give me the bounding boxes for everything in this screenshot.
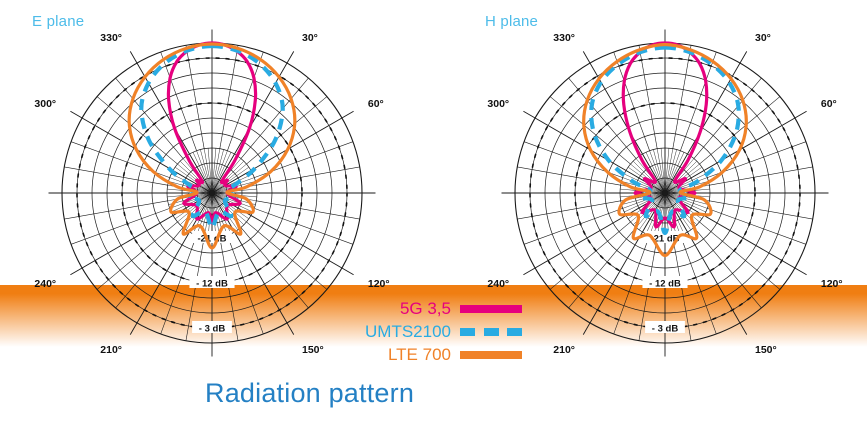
polar-plot-h-plane: 0°30°60°90°120°150°180°210°240°270°300°3… — [485, 13, 845, 373]
radial-label-3db: - 3 dB — [652, 323, 679, 334]
figure-title: Radiation pattern — [205, 378, 414, 409]
legend-swatch-umts — [460, 328, 522, 336]
angle-tick-300: 300° — [34, 98, 56, 110]
legend-label-umts: UMTS2100 — [365, 322, 451, 342]
legend-swatch-5g — [460, 305, 522, 313]
legend-label-5g: 5G 3,5 — [400, 299, 451, 319]
legend-swatch-lte — [460, 351, 522, 359]
radial-label-12db: - 12 dB — [649, 278, 681, 289]
plane-label-e: E plane — [32, 13, 84, 30]
angle-tick-120: 120° — [368, 278, 390, 290]
angle-tick-300: 300° — [487, 98, 509, 110]
angle-tick-210: 210° — [553, 344, 575, 356]
angle-tick-240: 240° — [34, 278, 56, 290]
angle-tick-330: 330° — [553, 32, 575, 44]
legend-item-5g: 5G 3,5 — [297, 298, 522, 319]
radial-label-12db: - 12 dB — [196, 278, 228, 289]
angle-tick-330: 330° — [100, 32, 122, 44]
angle-tick-30: 30° — [302, 32, 318, 44]
legend-item-lte: LTE 700 — [297, 344, 522, 365]
angle-tick-60: 60° — [821, 98, 837, 110]
angle-tick-150: 150° — [755, 344, 777, 356]
angle-tick-210: 210° — [100, 344, 122, 356]
angle-tick-240: 240° — [487, 278, 509, 290]
angle-tick-60: 60° — [368, 98, 384, 110]
plane-label-h: H plane — [485, 13, 538, 30]
legend-label-lte: LTE 700 — [388, 345, 451, 365]
legend: 5G 3,5 UMTS2100 LTE 700 — [297, 298, 522, 367]
angle-tick-30: 30° — [755, 32, 771, 44]
angle-tick-120: 120° — [821, 278, 843, 290]
radial-label-21db: -21 dB — [197, 233, 226, 244]
angle-tick-0: 0° — [207, 13, 217, 14]
radial-label-3db: - 3 dB — [199, 323, 226, 334]
radiation-pattern-figure: 0°30°60°90°120°150°180°210°240°270°300°3… — [0, 0, 867, 426]
angle-tick-0: 0° — [660, 13, 670, 14]
legend-item-umts: UMTS2100 — [297, 321, 522, 342]
